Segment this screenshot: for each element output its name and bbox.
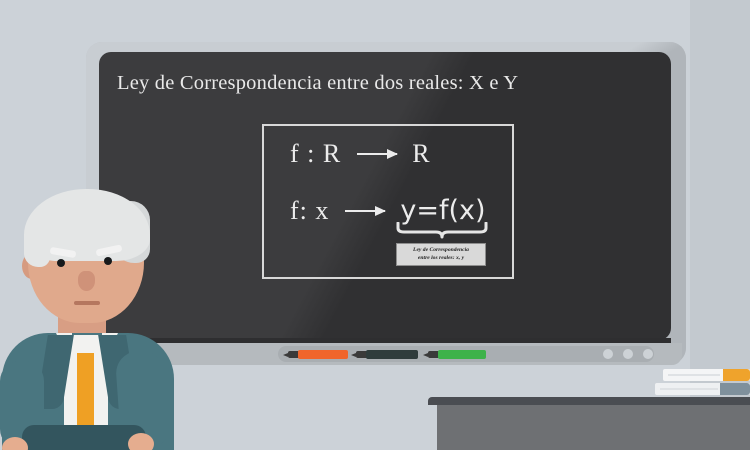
desk-top-edge (428, 397, 750, 405)
tray-dot-2-icon (623, 349, 633, 359)
desk-body (437, 405, 750, 450)
marker-orange[interactable] (298, 350, 348, 359)
teacher-eye-right (104, 257, 112, 265)
marker-green[interactable] (438, 350, 486, 359)
annotation-line-1: Ley de Correspondencia (398, 246, 484, 254)
arrow-right-icon (345, 210, 385, 212)
teacher-eye-left (57, 259, 65, 267)
video-frame: Ley de Correspondencia entre dos reales:… (0, 0, 750, 450)
teacher-nose (78, 271, 95, 291)
tray-dot-3-icon (643, 349, 653, 359)
teacher-character (0, 175, 230, 450)
formula-line-1: f : R R (290, 139, 431, 169)
formula-annotation-note: Ley de Correspondencia entre los reales:… (396, 243, 486, 266)
tray-dot-1-icon (603, 349, 613, 359)
marker-dark[interactable] (366, 350, 418, 359)
annotation-line-2: entre los reales: x, y (398, 254, 484, 262)
book-bottom-spine (720, 383, 750, 395)
teacher-mouth (74, 301, 100, 305)
board-title: Ley de Correspondencia entre dos reales:… (117, 72, 657, 95)
formula-line-2-left: f: x (290, 196, 329, 225)
teacher-hair-side (24, 223, 50, 267)
book-top-spine (723, 369, 750, 381)
underbrace-icon (396, 222, 488, 239)
book-bottom-page-line (660, 388, 718, 390)
book-top-page-line (668, 374, 720, 376)
arrow-right-icon (357, 153, 397, 155)
teacher-hand-right (128, 433, 154, 450)
formula-line-1-right: R (412, 139, 430, 168)
formula-line-1-left: f : R (290, 139, 341, 168)
